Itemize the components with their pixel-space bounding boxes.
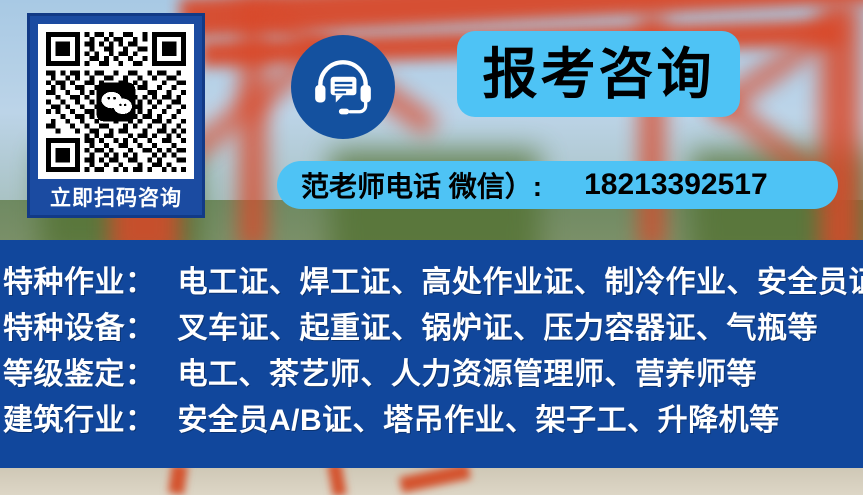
title-badge-text: 报考咨询: [482, 47, 714, 102]
phone-number[interactable]: 18213392517: [584, 168, 768, 202]
photo-blob: [327, 468, 347, 495]
service-category: 特种作业：: [3, 257, 156, 301]
crane-column: [240, 0, 266, 250]
service-category: 等级鉴定：: [3, 349, 156, 393]
title-badge: 报考咨询: [457, 31, 740, 117]
phone-badge[interactable]: 范老师电话 微信）: 18213392517: [277, 161, 838, 209]
qr-code-matrix: [46, 32, 186, 172]
service-items: 电工证、焊工证、高处作业证、制冷作业、安全员证等: [178, 257, 863, 301]
promo-poster: 立即扫码咨询 报考咨询 范老师电话 微信）: 18213392517 特种作业：…: [0, 0, 863, 495]
photo-blob: [399, 468, 471, 493]
service-items: 安全员A/B证、塔吊作业、架子工、升降机等: [178, 395, 780, 439]
service-row: 建筑行业： 安全员A/B证、塔吊作业、架子工、升降机等: [0, 395, 863, 441]
service-category: 特种设备：: [3, 303, 156, 347]
service-row: 等级鉴定： 电工、茶艺师、人力资源管理师、营养师等: [0, 349, 863, 395]
service-row: 特种作业： 电工证、焊工证、高处作业证、制冷作业、安全员证等: [0, 257, 863, 303]
photo-blob: [168, 468, 188, 495]
service-items: 叉车证、起重证、锅炉证、压力容器证、气瓶等: [178, 303, 819, 347]
qr-card[interactable]: 立即扫码咨询: [27, 13, 205, 218]
phone-label: 范老师电话 微信）:: [301, 165, 542, 205]
headset-circle: [291, 35, 395, 139]
headset-chat-icon: [310, 54, 376, 120]
service-category: 建筑行业：: [3, 395, 156, 439]
qr-caption: 立即扫码咨询: [38, 179, 194, 219]
bottom-photo-strip: [0, 468, 863, 495]
service-items: 电工、茶艺师、人力资源管理师、营养师等: [178, 349, 758, 393]
service-list-band: 特种作业： 电工证、焊工证、高处作业证、制冷作业、安全员证等 特种设备： 叉车证…: [0, 240, 863, 468]
qr-code[interactable]: [38, 24, 194, 179]
service-row: 特种设备： 叉车证、起重证、锅炉证、压力容器证、气瓶等: [0, 303, 863, 349]
